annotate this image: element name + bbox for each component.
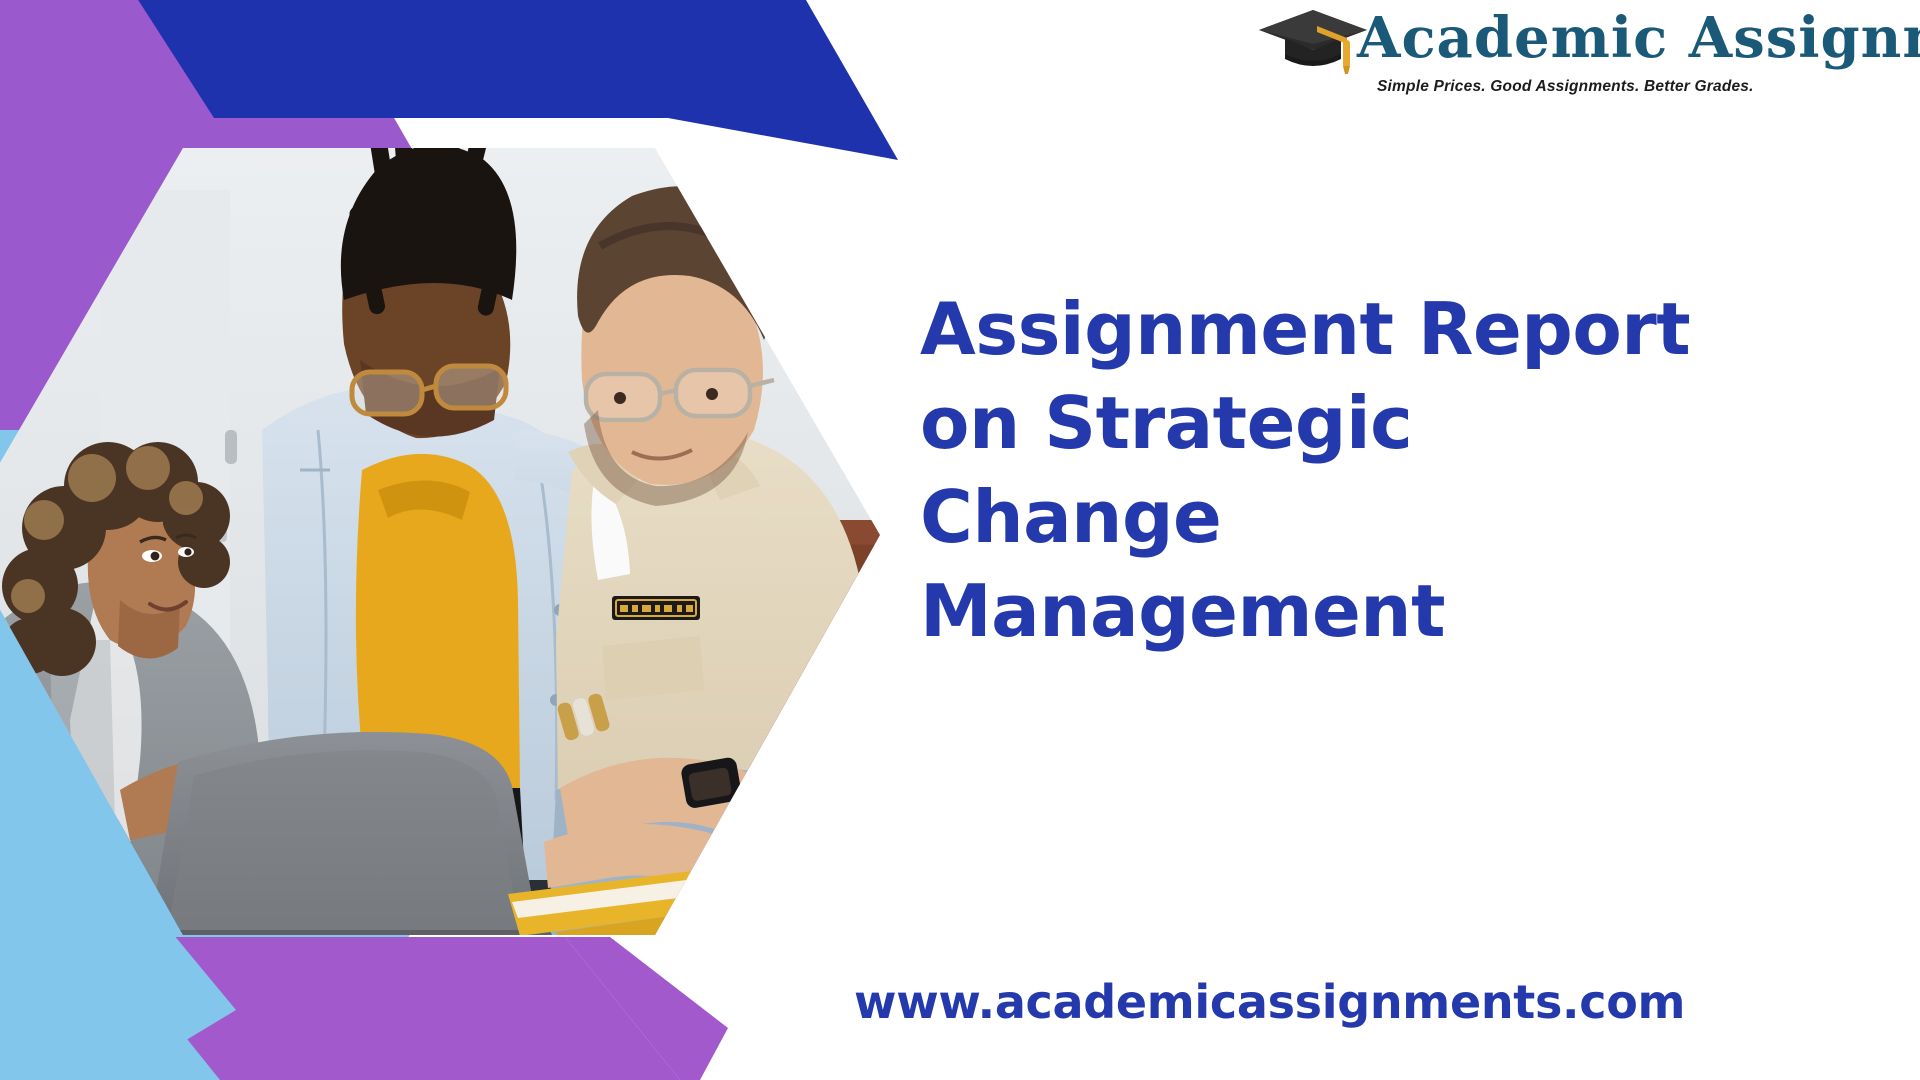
logo-row: Academic Assignments: [1255, 2, 1920, 76]
page-title-line-1: Assignment Report: [920, 282, 1880, 376]
photo-hexagon: [0, 100, 900, 960]
website-url[interactable]: www.academicassignments.com: [854, 976, 1685, 1028]
graduation-cap-icon: [1255, 4, 1371, 76]
person-right: [544, 186, 880, 940]
blue-hexagon-top: [0, 0, 898, 160]
light-blue-wedge-lower: [0, 870, 236, 1080]
laptop: [140, 732, 552, 954]
page-title-line-3: Change: [920, 470, 1880, 564]
notebook: [508, 870, 752, 952]
light-blue-hexagon-bottom-left: [0, 430, 470, 1080]
purple-hexagon-bottom-main: [105, 937, 680, 1080]
purple-hexagon-top-left: [0, 0, 470, 650]
logo-tagline: Simple Prices. Good Assignments. Better …: [1377, 78, 1754, 96]
person-center: [262, 100, 693, 940]
page-title-line-2: on Strategic: [920, 376, 1880, 470]
purple-hexagon-bottom-wedge: [565, 937, 728, 1080]
page-title: Assignment Report on Strategic Change Ma…: [920, 282, 1880, 658]
page-title-line-4: Management: [920, 564, 1880, 658]
poster-canvas: Academic Assignments Simple Prices. Good…: [0, 0, 1920, 1080]
brand-logo[interactable]: Academic Assignments Simple Prices. Good…: [1255, 2, 1915, 98]
logo-wordmark: Academic Assignments: [1357, 8, 1920, 68]
person-left: [0, 442, 433, 930]
